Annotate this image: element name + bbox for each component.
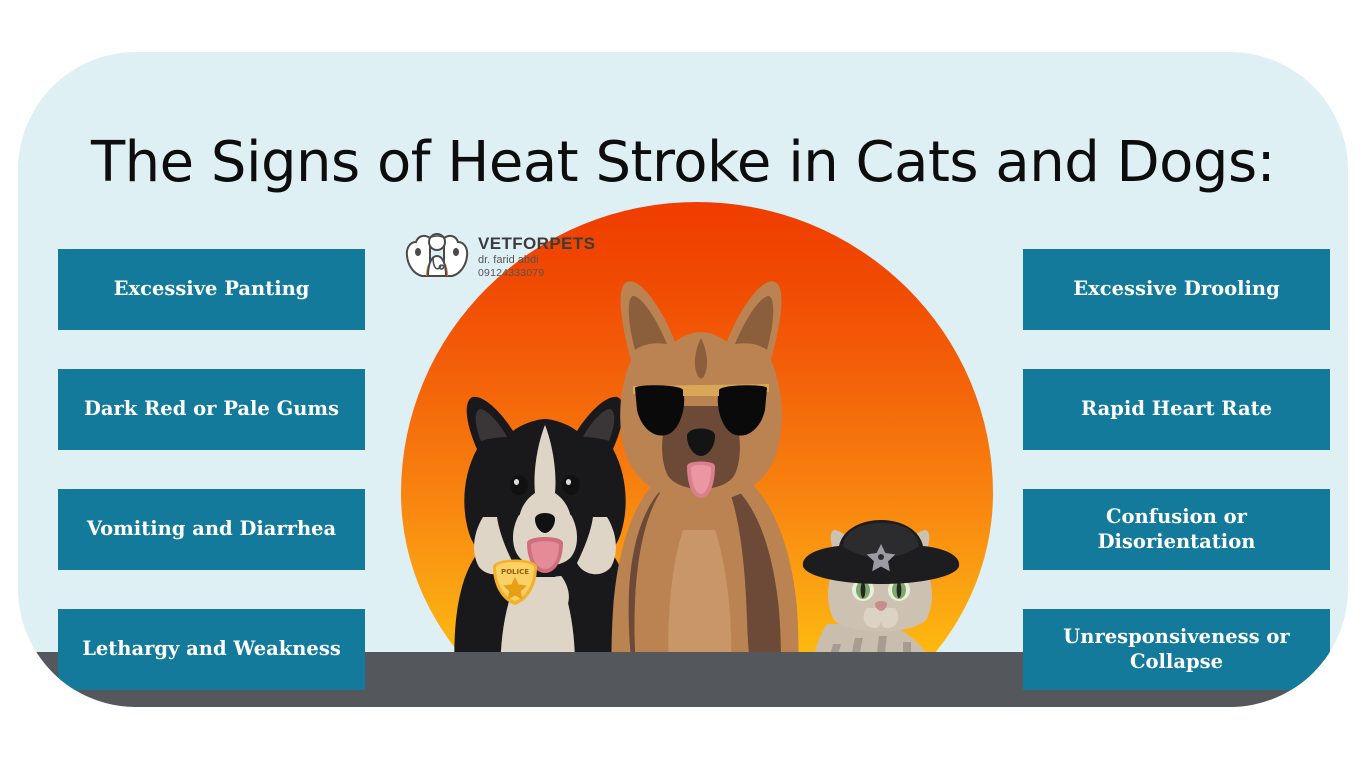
poster-card: POLICE (18, 52, 1348, 707)
logo-phone: 09124333079 (478, 268, 595, 279)
logo-name: VETFORPETS (478, 235, 595, 253)
symptom-box: Confusion or Disorientation (1023, 489, 1330, 570)
symptom-box: Dark Red or Pale Gums (58, 369, 365, 450)
symptom-box: Vomiting and Diarrhea (58, 489, 365, 570)
symptom-box: Rapid Heart Rate (1023, 369, 1330, 450)
symptoms-right-column: Excessive Drooling Rapid Heart Rate Conf… (1023, 249, 1330, 707)
vetforpets-logo: VETFORPETS dr. farid abdi 09124333079 (404, 230, 595, 282)
german-shepherd-dog (573, 280, 823, 707)
symptom-box: Unresponsiveness or Collapse (1023, 609, 1330, 690)
symptom-box: Excessive Panting (58, 249, 365, 330)
poster-canvas: POLICE (0, 0, 1366, 768)
symptoms-left-column: Excessive Panting Dark Red or Pale Gums … (58, 249, 365, 707)
symptom-box: Excessive Drooling (1023, 249, 1330, 330)
logo-subtitle: dr. farid abdi (478, 255, 595, 267)
svg-text:POLICE: POLICE (501, 568, 529, 576)
page-title: The Signs of Heat Stroke in Cats and Dog… (18, 130, 1348, 195)
vet-dog-cat-doctor-icon (404, 230, 470, 282)
symptom-box: Lethargy and Weakness (58, 609, 365, 690)
